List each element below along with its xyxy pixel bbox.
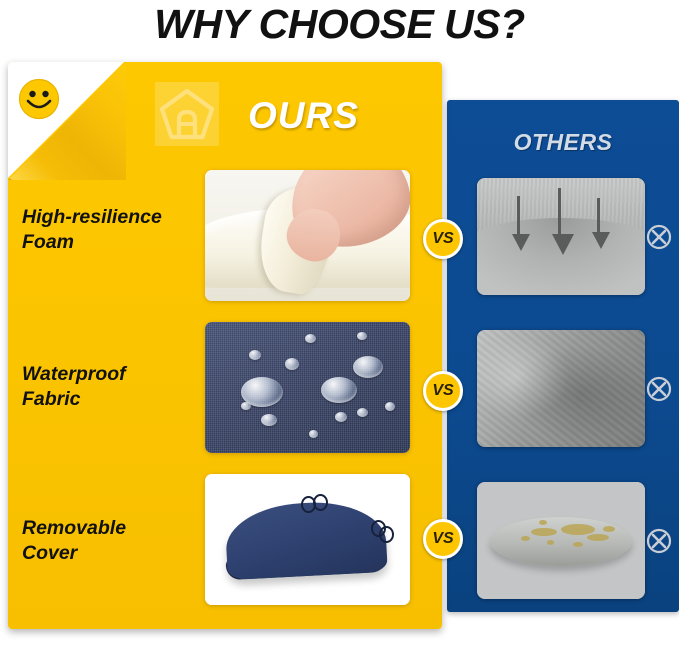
circled-x-icon-row-2 <box>646 376 672 402</box>
house-pentagon-logo-icon <box>155 82 219 146</box>
others-heading: OTHERS <box>447 129 679 156</box>
vs-badge-row-3: VS <box>423 519 463 559</box>
smiley-face-icon <box>18 78 60 120</box>
page-title: WHY CHOOSE US? <box>0 0 679 56</box>
feature-label-fabric-line1: Waterproof <box>22 363 126 385</box>
feature-label-foam-line2: Foam <box>22 231 74 253</box>
feature-label-fabric: Waterproof Fabric <box>22 362 202 412</box>
others-photo-fabric <box>477 330 645 447</box>
vs-badge-row-1: VS <box>423 219 463 259</box>
feature-label-fabric-line2: Fabric <box>22 388 81 410</box>
feature-label-cover: Removable Cover <box>22 516 202 566</box>
vs-badge-row-2: VS <box>423 371 463 411</box>
others-photo-foam <box>477 178 645 295</box>
ours-photo-foam <box>205 170 410 301</box>
ours-photo-fabric <box>205 322 410 453</box>
circled-x-icon-row-1 <box>646 224 672 250</box>
circled-x-icon-row-3 <box>646 528 672 554</box>
feature-label-cover-line2: Cover <box>22 542 77 564</box>
ours-photo-cover <box>205 474 410 605</box>
feature-label-foam-line1: High-resilience <box>22 206 162 228</box>
feature-label-cover-line1: Removable <box>22 517 126 539</box>
feature-label-foam: High-resilience Foam <box>22 205 202 255</box>
ours-heading: OURS <box>248 95 359 137</box>
others-photo-cover <box>477 482 645 599</box>
